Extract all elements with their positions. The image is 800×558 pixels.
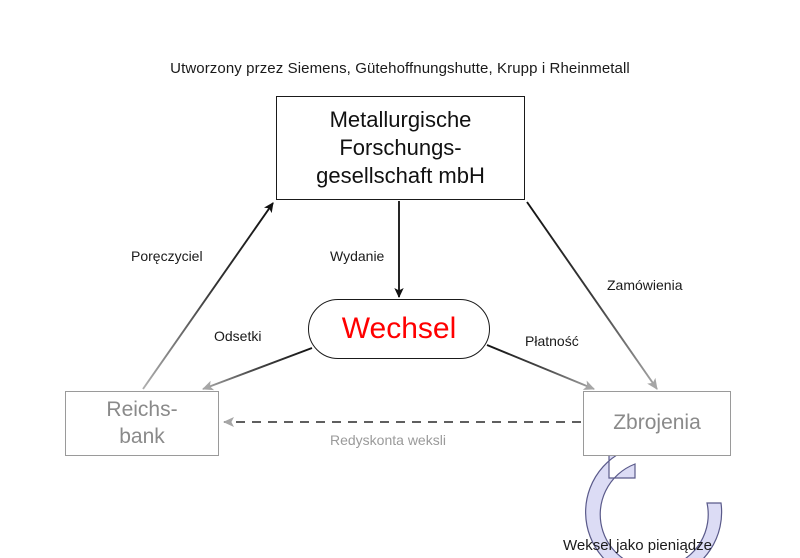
node-zbrojenia[interactable]: Zbrojenia bbox=[583, 391, 731, 456]
edge-label-platnosc: Płatność bbox=[525, 333, 579, 349]
node-reichsbank-line1: Reichs- bbox=[106, 397, 177, 424]
node-metallurgische-forschungsgesellschaft[interactable]: Metallurgische Forschungs- gesellschaft … bbox=[276, 96, 525, 200]
node-reichsbank[interactable]: Reichs- bank bbox=[65, 391, 219, 456]
edge-label-wydanie: Wydanie bbox=[330, 248, 384, 264]
node-wechsel-label: Wechsel bbox=[342, 310, 457, 348]
node-mefo-line1: Metallurgische bbox=[316, 106, 485, 134]
edge-label-poreczyciel: Poręczyciel bbox=[131, 248, 203, 264]
node-mefo-text: Metallurgische Forschungs- gesellschaft … bbox=[316, 106, 485, 190]
caption-weksel-jako-pieniadze: Weksel jako pieniądze bbox=[563, 537, 712, 554]
edge-label-odsetki: Odsetki bbox=[214, 328, 261, 344]
edge-label-zamowienia: Zamówienia bbox=[607, 277, 682, 293]
page-title: Utworzony przez Siemens, Gütehoffnungshu… bbox=[0, 60, 800, 77]
node-reichsbank-line2: bank bbox=[106, 424, 177, 451]
node-zbrojenia-label: Zbrojenia bbox=[613, 410, 701, 437]
edge-zamowienia bbox=[527, 202, 657, 389]
edge-label-redyskonta: Redyskonta weksli bbox=[330, 432, 446, 448]
edge-odsetki bbox=[203, 348, 312, 389]
node-mefo-line3: gesellschaft mbH bbox=[316, 162, 485, 190]
edge-poreczyciel bbox=[143, 203, 273, 389]
node-reichsbank-text: Reichs- bank bbox=[106, 397, 177, 451]
diagram-canvas: Utworzony przez Siemens, Gütehoffnungshu… bbox=[0, 0, 800, 558]
node-mefo-line2: Forschungs- bbox=[316, 134, 485, 162]
edge-platnosc bbox=[487, 345, 594, 389]
node-wechsel[interactable]: Wechsel bbox=[308, 299, 490, 359]
